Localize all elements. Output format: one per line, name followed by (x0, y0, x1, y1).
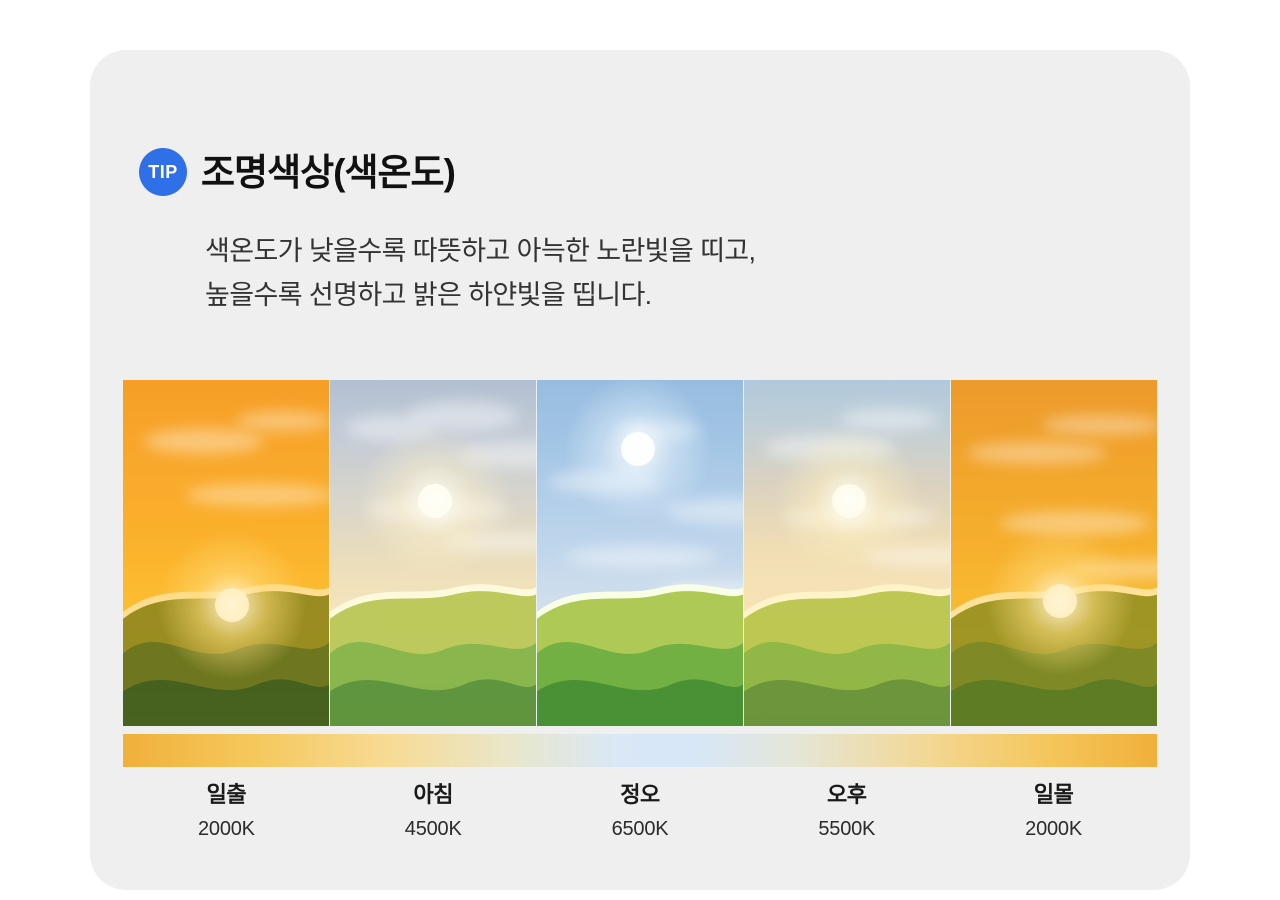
sun-icon (215, 588, 249, 622)
sun-icon (832, 484, 866, 518)
panel-오후 (744, 380, 951, 726)
tip-badge: TIP (139, 148, 187, 196)
panel-일출 (123, 380, 330, 726)
sun-icon (1043, 584, 1077, 618)
label-column-일출: 일출2000K (123, 780, 330, 844)
label-column-아침: 아침4500K (330, 780, 537, 844)
panel-hills (537, 553, 743, 726)
color-temperature-image-strip (123, 380, 1157, 726)
sun-icon (418, 484, 452, 518)
tip-description-line-2: 높을수록 선명하고 밝은 하얀빛을 띱니다. (205, 274, 755, 318)
sun-icon (621, 432, 655, 466)
color-temperature-labels: 일출2000K아침4500K정오6500K오후5500K일몰2000K (123, 780, 1157, 844)
label-time-of-day: 정오 (537, 780, 744, 810)
page-title: 조명색상(색온도) (201, 154, 455, 191)
label-kelvin-value: 4500K (330, 814, 537, 844)
label-kelvin-value: 2000K (123, 814, 330, 844)
label-kelvin-value: 6500K (537, 814, 744, 844)
label-kelvin-value: 2000K (950, 814, 1157, 844)
panel-정오 (537, 380, 744, 726)
label-time-of-day: 일출 (123, 780, 330, 810)
page-root: TIP 조명색상(색온도) 색온도가 낮을수록 따뜻하고 아늑한 노란빛을 띠고… (0, 0, 1280, 900)
panel-hills (744, 553, 950, 726)
label-kelvin-value: 5500K (743, 814, 950, 844)
label-time-of-day: 오후 (743, 780, 950, 810)
panel-아침 (330, 380, 537, 726)
tip-header: TIP 조명색상(색온도) (139, 148, 455, 196)
panel-hills (330, 553, 536, 726)
label-time-of-day: 일몰 (950, 780, 1157, 810)
tip-description: 색온도가 낮을수록 따뜻하고 아늑한 노란빛을 띠고, 높을수록 선명하고 밝은… (205, 230, 755, 317)
label-time-of-day: 아침 (330, 780, 537, 810)
label-column-일몰: 일몰2000K (950, 780, 1157, 844)
panel-일몰 (951, 380, 1157, 726)
label-column-오후: 오후5500K (743, 780, 950, 844)
tip-description-line-1: 색온도가 낮을수록 따뜻하고 아늑한 노란빛을 띠고, (205, 230, 755, 274)
label-column-정오: 정오6500K (537, 780, 744, 844)
tip-card: TIP 조명색상(색온도) 색온도가 낮을수록 따뜻하고 아늑한 노란빛을 띠고… (90, 50, 1190, 890)
color-temperature-gradient-bar (123, 734, 1157, 767)
